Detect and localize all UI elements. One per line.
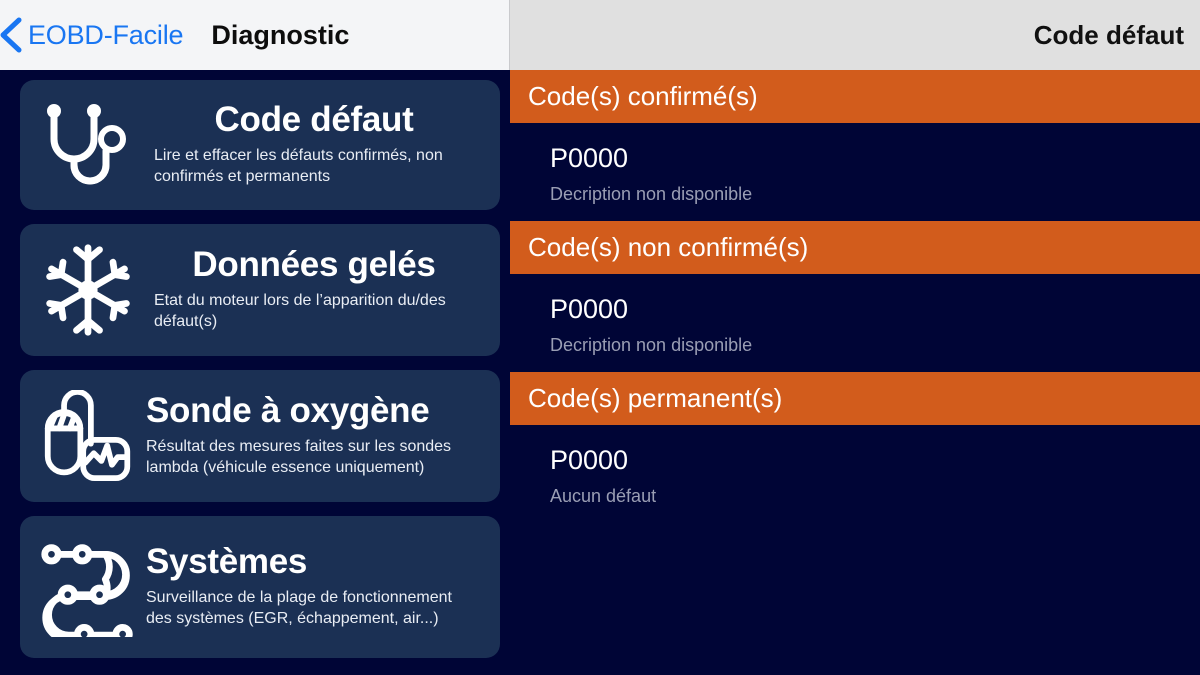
- stethoscope-icon: [30, 101, 146, 189]
- sidebar-item-sonde-oxygene[interactable]: Sonde à oxygène Résultat des mesures fai…: [20, 370, 500, 502]
- sidebar-item-title: Systèmes: [146, 544, 482, 581]
- chevron-left-icon: [0, 15, 24, 55]
- page-title: Diagnostic: [211, 20, 349, 51]
- fault-code-description: Decription non disponible: [550, 335, 1200, 356]
- sidebar-item-description: Résultat des mesures faites sur les sond…: [146, 437, 482, 479]
- header-right-section: Code défaut: [510, 0, 1200, 70]
- sidebar-item-description: Surveillance de la plage de fonctionneme…: [146, 588, 482, 630]
- section-header-permanent: Code(s) permanent(s): [510, 372, 1200, 425]
- sidebar-item-systemes[interactable]: Systèmes Surveillance de la plage de fon…: [20, 516, 500, 658]
- app-root: EOBD-Facile Diagnostic Code défaut: [0, 0, 1200, 675]
- fault-code-description: Decription non disponible: [550, 184, 1200, 205]
- fault-codes-panel: Code(s) confirmé(s) P0000 Decription non…: [510, 70, 1200, 675]
- sidebar-item-donnees-geles[interactable]: Données gelés Etat du moteur lors de l’a…: [20, 224, 500, 356]
- fault-code-description: Aucun défaut: [550, 486, 1200, 507]
- fault-code-value[interactable]: P0000: [550, 445, 1200, 476]
- snowflake-icon: [30, 242, 146, 338]
- sidebar-item-text: Systèmes Surveillance de la plage de fon…: [146, 544, 486, 629]
- section-header-confirmed: Code(s) confirmé(s): [510, 70, 1200, 123]
- oxygen-sensor-icon: [30, 390, 146, 482]
- sidebar-item-description: Etat du moteur lors de l’apparition du/d…: [146, 291, 482, 333]
- fault-code-value[interactable]: P0000: [550, 294, 1200, 325]
- section-header-unconfirmed: Code(s) non confirmé(s): [510, 221, 1200, 274]
- back-button[interactable]: [2, 15, 24, 55]
- fault-section: Code(s) permanent(s) P0000 Aucun défaut: [510, 372, 1200, 523]
- sidebar-item-description: Lire et effacer les défauts confirmés, n…: [146, 146, 482, 188]
- sidebar-item-title: Code défaut: [146, 102, 482, 139]
- fault-section: Code(s) non confirmé(s) P0000 Decription…: [510, 221, 1200, 372]
- systems-circuit-icon: [30, 537, 146, 637]
- section-body: P0000 Aucun défaut: [510, 425, 1200, 523]
- sidebar-item-title: Sonde à oxygène: [146, 393, 482, 430]
- sidebar-item-text: Sonde à oxygène Résultat des mesures fai…: [146, 393, 486, 478]
- sidebar-item-code-defaut[interactable]: Code défaut Lire et effacer les défauts …: [20, 80, 500, 210]
- header-left-section: EOBD-Facile Diagnostic: [0, 0, 510, 70]
- fault-section: Code(s) confirmé(s) P0000 Decription non…: [510, 70, 1200, 221]
- top-header: EOBD-Facile Diagnostic Code défaut: [0, 0, 1200, 70]
- section-header-label: Code(s) non confirmé(s): [528, 232, 808, 263]
- sidebar-menu: Code défaut Lire et effacer les défauts …: [0, 70, 510, 675]
- section-body: P0000 Decription non disponible: [510, 123, 1200, 221]
- brand-label[interactable]: EOBD-Facile: [28, 20, 183, 51]
- section-header-label: Code(s) confirmé(s): [528, 81, 758, 112]
- sidebar-item-text: Données gelés Etat du moteur lors de l’a…: [146, 247, 486, 332]
- detail-panel-title: Code défaut: [1034, 20, 1184, 51]
- sidebar-item-text: Code défaut Lire et effacer les défauts …: [146, 102, 486, 187]
- section-header-label: Code(s) permanent(s): [528, 383, 782, 414]
- fault-code-value[interactable]: P0000: [550, 143, 1200, 174]
- sidebar-item-title: Données gelés: [146, 247, 482, 284]
- section-body: P0000 Decription non disponible: [510, 274, 1200, 372]
